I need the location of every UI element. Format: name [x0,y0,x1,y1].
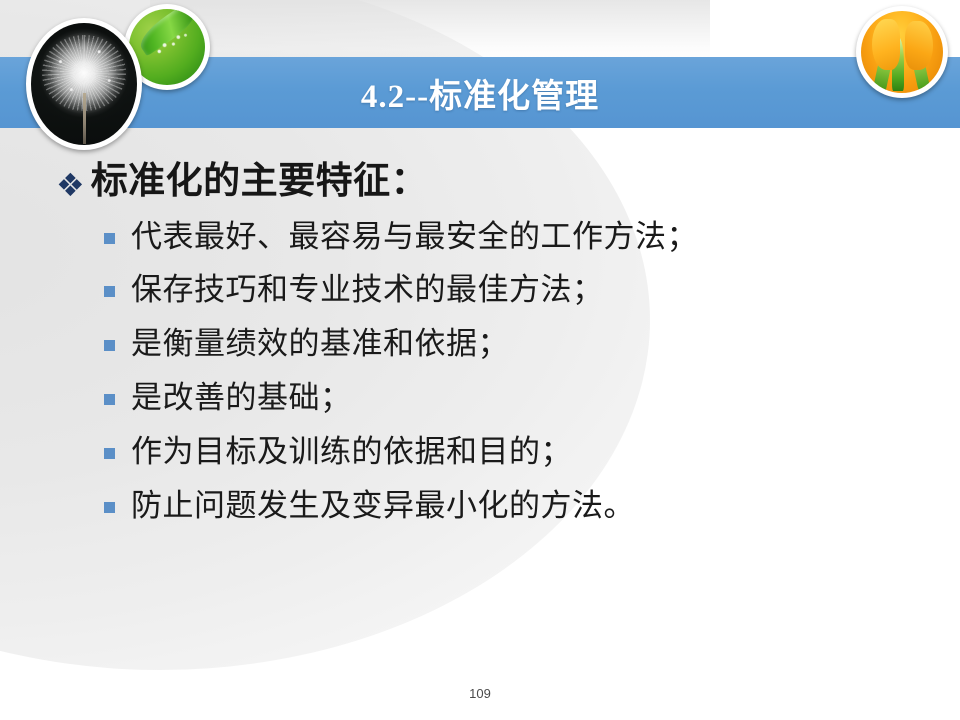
square-bullet-icon [104,502,115,513]
list-item: 防止问题发生及变异最小化的方法。 [0,487,960,525]
square-bullet-icon [104,233,115,244]
tulip-petal-left [872,19,900,70]
slide-body: ❖ 标准化的主要特征： 代表最好、最容易与最安全的工作方法； 保存技巧和专业技术… [0,160,960,541]
list-item-label: 是改善的基础； [131,379,352,417]
list-item-label: 代表最好、最容易与最安全的工作方法； [131,218,698,256]
feature-list: 代表最好、最容易与最安全的工作方法； 保存技巧和专业技术的最佳方法； 是衡量绩效… [0,218,960,525]
dandelion-image [31,23,137,145]
square-bullet-icon [104,394,115,405]
list-item: 保存技巧和专业技术的最佳方法； [0,271,960,309]
section-heading-text: 标准化的主要特征： [91,160,429,204]
tulip-image [861,11,943,93]
page-number: 109 [0,686,960,701]
list-item-label: 是衡量绩效的基准和依据； [131,325,509,363]
list-item-label: 保存技巧和专业技术的最佳方法； [131,271,604,309]
dandelion-stem [83,93,86,144]
list-item: 作为目标及训练的依据和目的； [0,433,960,471]
diamond-bullet-icon: ❖ [56,169,85,201]
list-item: 是改善的基础； [0,379,960,417]
list-item-label: 防止问题发生及变异最小化的方法。 [131,487,635,525]
list-item: 代表最好、最容易与最安全的工作方法； [0,218,960,256]
square-bullet-icon [104,448,115,459]
square-bullet-icon [104,286,115,297]
dandelion-icon [26,18,142,150]
slide: 4.2--标准化管理 ❖ 标准化的主要特征： [0,0,960,720]
square-bullet-icon [104,340,115,351]
section-heading: ❖ 标准化的主要特征： [0,160,960,204]
tulip-petal-right [905,21,933,70]
list-item: 是衡量绩效的基准和依据； [0,325,960,363]
tulip-icon [856,6,948,98]
list-item-label: 作为目标及训练的依据和目的； [131,433,572,471]
